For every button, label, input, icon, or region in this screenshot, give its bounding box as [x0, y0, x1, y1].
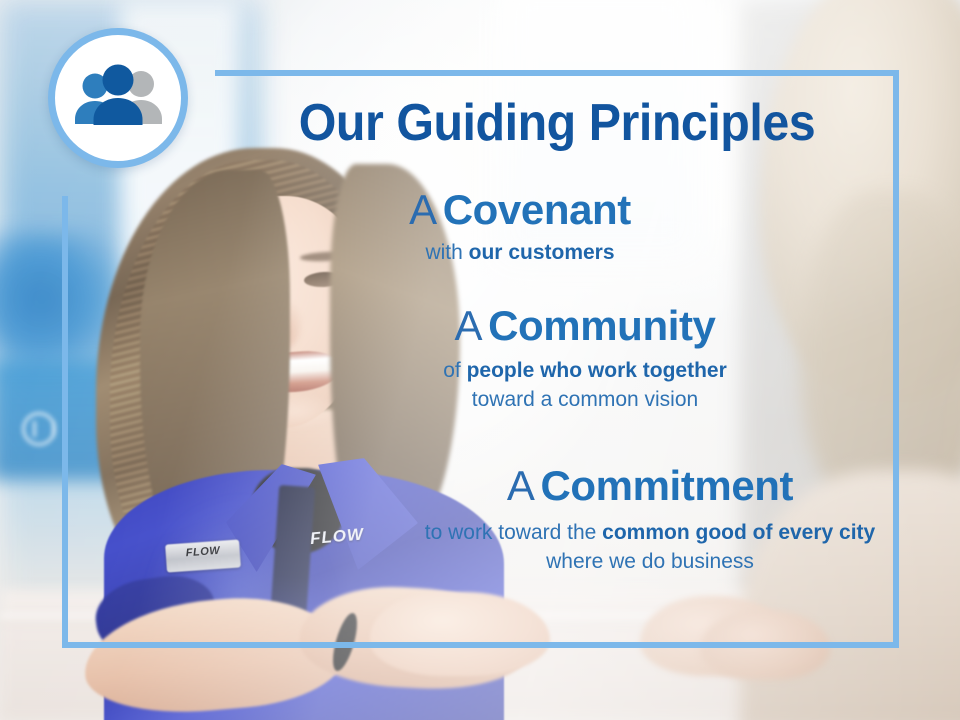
- principle-3-sub-part-1: common good of every city: [602, 521, 875, 544]
- principle-3-heading: ACommitment: [400, 462, 900, 510]
- principle-1-subtext: with our customers: [300, 238, 740, 267]
- page-title: Our Guiding Principles: [239, 95, 875, 151]
- principle-2-sub-part-0: of: [443, 359, 466, 382]
- principle-2-subtext: of people who work together toward a com…: [350, 356, 820, 414]
- principle-1-article: A: [409, 186, 443, 233]
- principle-1-sub-part-0: with: [425, 241, 468, 264]
- principle-2-word: Community: [488, 302, 715, 349]
- principle-1-sub-part-1: our customers: [469, 241, 615, 264]
- principle-3-article: A: [507, 462, 541, 509]
- principle-community: ACommunity of people who work together t…: [350, 302, 820, 414]
- principle-3-word: Commitment: [540, 462, 793, 509]
- principle-commitment: ACommitment to work toward the common go…: [400, 462, 900, 576]
- principle-3-sub-part-2: where we do business: [546, 550, 754, 573]
- principle-1-word: Covenant: [443, 186, 631, 233]
- principle-2-heading: ACommunity: [350, 302, 820, 350]
- principle-3-subtext: to work toward the common good of every …: [400, 518, 900, 576]
- principle-2-sub-part-1: people who work together: [467, 359, 727, 382]
- principle-2-sub-line-0: of people who work together: [350, 356, 820, 385]
- principle-2-article: A: [454, 302, 488, 349]
- principle-covenant: ACovenant with our customers: [300, 186, 740, 267]
- principle-3-sub-part-0: to work toward the: [425, 521, 602, 544]
- guiding-principles-banner: FLOW FLOW Our Guiding Principles: [0, 0, 960, 720]
- text-layer: Our Guiding Principles ACovenant with ou…: [0, 0, 960, 720]
- principle-2-sub-line-1: toward a common vision: [350, 385, 820, 414]
- principle-1-heading: ACovenant: [300, 186, 740, 234]
